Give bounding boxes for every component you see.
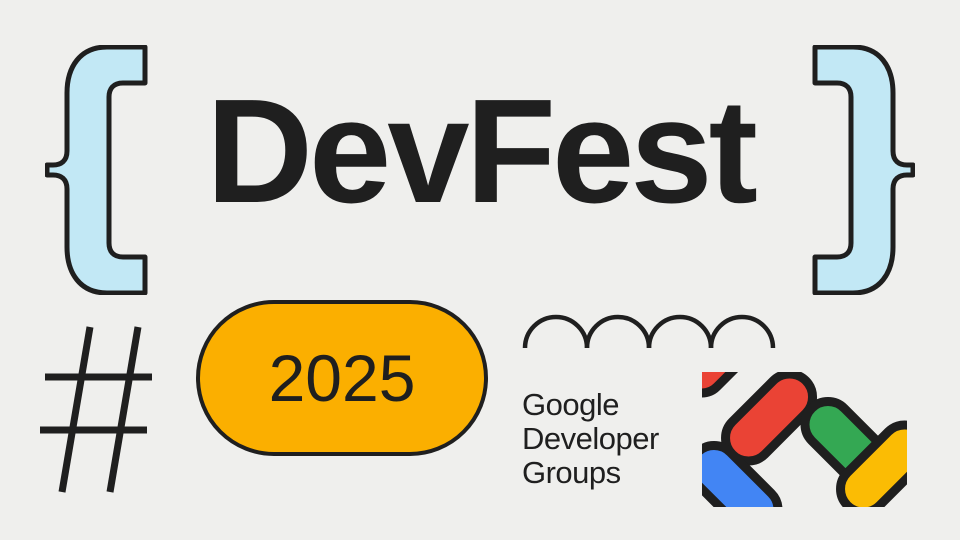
arches-decoration [522, 296, 792, 357]
hashtag-icon [40, 322, 170, 502]
devfest-poster: DevFest 2025 Google Developer [0, 0, 960, 540]
year-badge: 2025 [196, 300, 488, 456]
devfest-wordmark: DevFest [0, 78, 960, 226]
gdg-wordmark: Google Developer Groups [522, 388, 659, 490]
gdg-wordmark-line-3: Groups [522, 456, 659, 490]
year-label: 2025 [269, 345, 416, 411]
gdg-wordmark-line-1: Google [522, 388, 659, 422]
gdg-wordmark-line-2: Developer [522, 422, 659, 456]
gdg-chevron-logo [702, 372, 907, 512]
